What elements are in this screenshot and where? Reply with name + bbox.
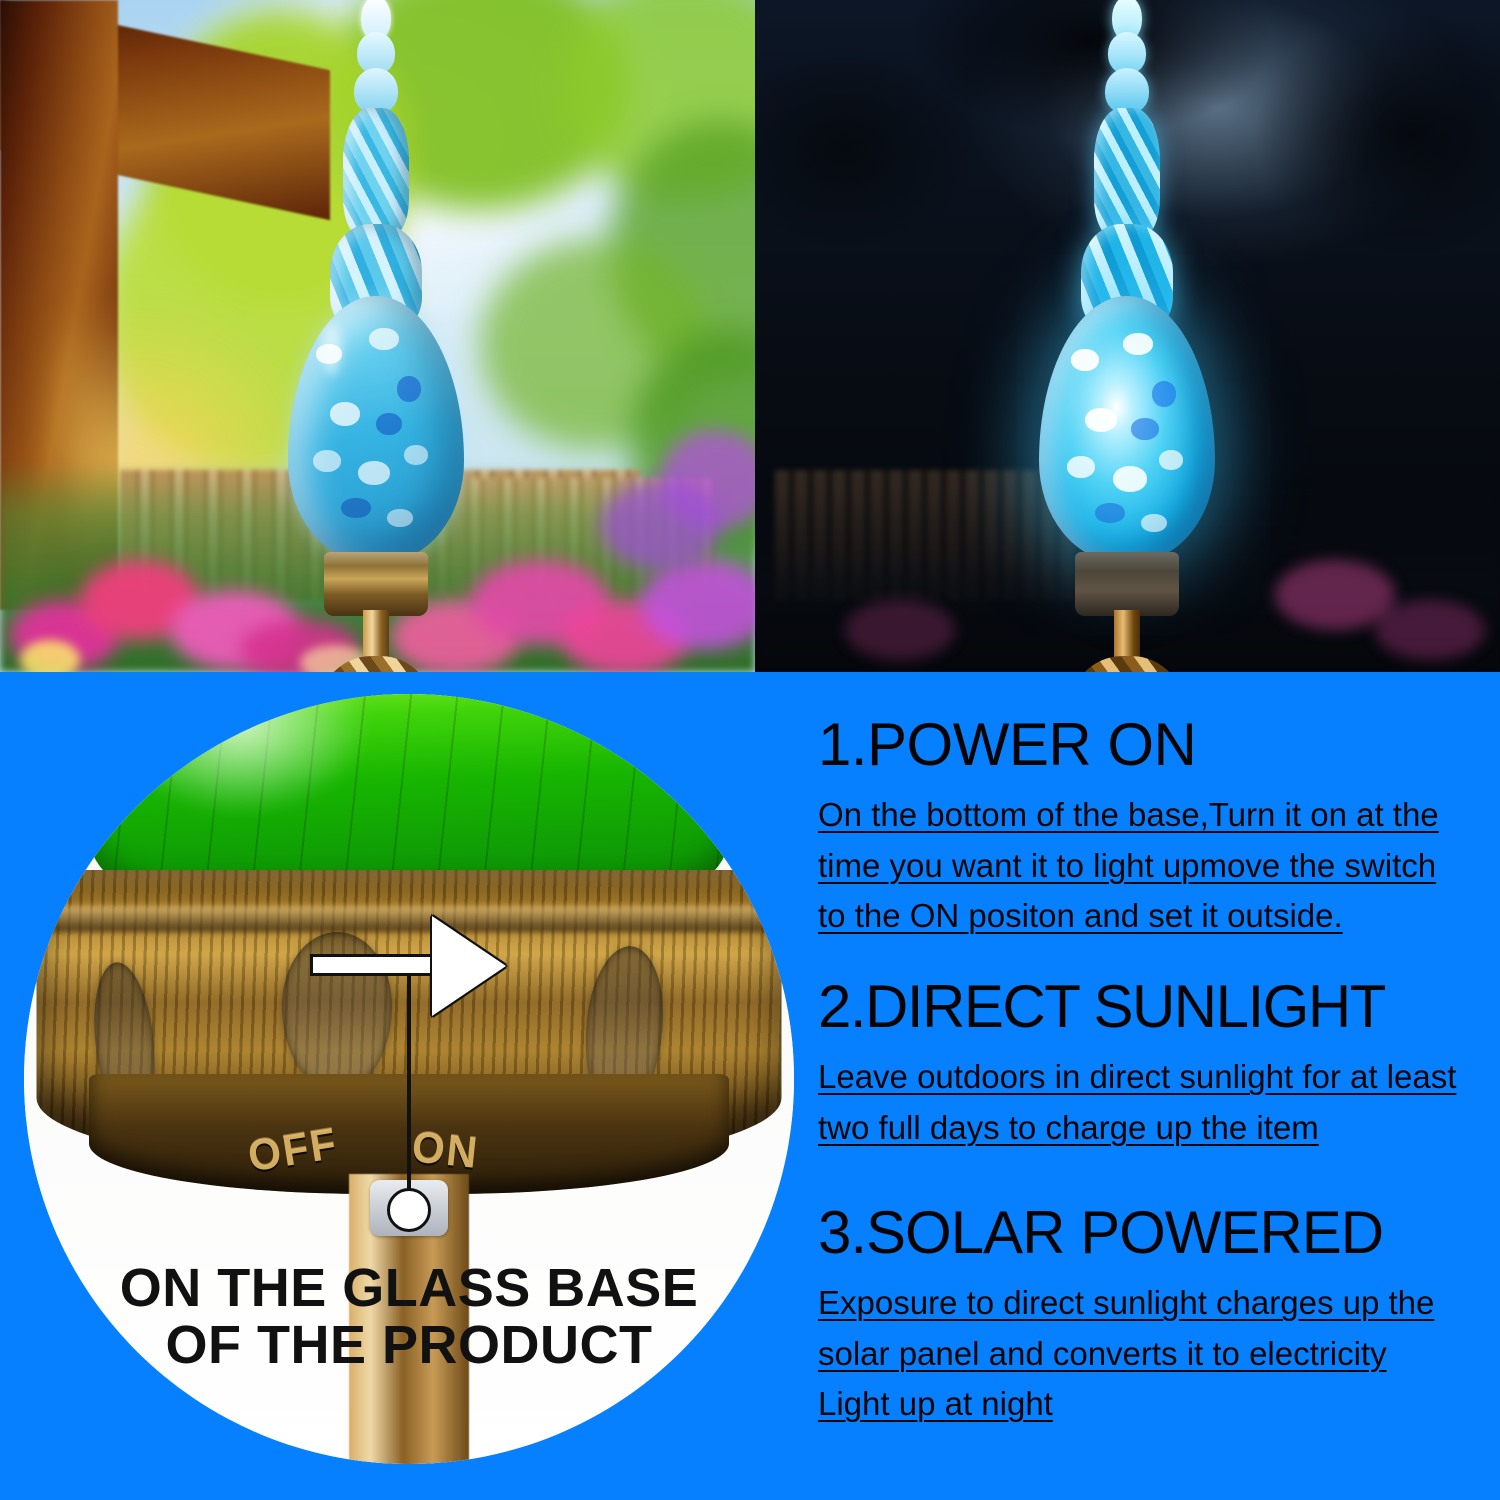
bronze-base-rim bbox=[34, 906, 784, 932]
step-2-title: 2.DIRECT SUNLIGHT bbox=[818, 976, 1478, 1038]
pointer-line bbox=[407, 958, 411, 1210]
step-1-body: On the bottom of the base,Turn it on at … bbox=[818, 790, 1478, 940]
step-2-line-1: Leave outdoors in direct sunlight for at… bbox=[818, 1052, 1478, 1102]
bronze-cap bbox=[324, 552, 428, 616]
step-3-line-1: Exposure to direct sunlight charges up t… bbox=[818, 1278, 1478, 1328]
solar-light-stake bbox=[276, 0, 476, 672]
instruction-step-power-on: 1.POWER ON On the bottom of the base,Tur… bbox=[818, 714, 1478, 941]
instruction-step-solar-powered: 3.SOLAR POWERED Exposure to direct sunli… bbox=[818, 1202, 1478, 1429]
step-2-body: Leave outdoors in direct sunlight for at… bbox=[818, 1052, 1478, 1152]
nighttime-glowing-photo bbox=[755, 0, 1500, 672]
twisted-glass-neck bbox=[343, 108, 409, 238]
night-flower-cluster bbox=[845, 600, 955, 660]
instruction-step-direct-sunlight: 2.DIRECT SUNLIGHT Leave outdoors in dire… bbox=[818, 976, 1478, 1153]
solar-light-stake-lit bbox=[1027, 0, 1227, 672]
step-3-body: Exposure to direct sunlight charges up t… bbox=[818, 1278, 1478, 1428]
night-flower-cluster bbox=[1375, 600, 1485, 660]
infographic-page: OFF ON ON THE GLASS BASE OF THE PRODUCT … bbox=[0, 0, 1500, 1500]
step-1-line-3: to the ON positon and set it outside. bbox=[818, 891, 1478, 941]
bronze-cap bbox=[1075, 552, 1179, 616]
switch-detail-photo: OFF ON ON THE GLASS BASE OF THE PRODUCT bbox=[24, 694, 794, 1464]
pointer-dot-icon bbox=[387, 1188, 431, 1232]
blue-glass-bulb bbox=[288, 296, 464, 562]
twisted-glass-neck bbox=[1094, 108, 1160, 238]
step-2-line-2: two full days to charge up the item bbox=[818, 1103, 1478, 1153]
step-3-line-3: Light up at night bbox=[818, 1379, 1478, 1429]
step-3-line-2: solar panel and converts it to electrici… bbox=[818, 1329, 1478, 1379]
flower-cluster bbox=[600, 480, 720, 570]
step-3-title: 3.SOLAR POWERED bbox=[818, 1202, 1478, 1264]
step-1-line-2: time you want it to light upmove the swi… bbox=[818, 841, 1478, 891]
daytime-garden-photo bbox=[0, 0, 755, 672]
direction-arrow-head-icon bbox=[432, 916, 506, 1016]
detail-caption-line-1: ON THE GLASS BASE bbox=[24, 1260, 794, 1317]
bronze-spiral-stake bbox=[316, 656, 436, 672]
detail-caption-line-2: OF THE PRODUCT bbox=[24, 1317, 794, 1374]
step-1-line-1: On the bottom of the base,Turn it on at … bbox=[818, 790, 1478, 840]
detail-caption: ON THE GLASS BASE OF THE PRODUCT bbox=[24, 1260, 794, 1374]
bronze-spiral-stake bbox=[1067, 656, 1187, 672]
instructions-panel: 1.POWER ON On the bottom of the base,Tur… bbox=[818, 714, 1478, 1464]
step-1-title: 1.POWER ON bbox=[818, 714, 1478, 776]
blue-glass-bulb-lit bbox=[1039, 296, 1215, 562]
flower-cluster bbox=[20, 640, 80, 672]
on-label: ON bbox=[410, 1121, 482, 1178]
